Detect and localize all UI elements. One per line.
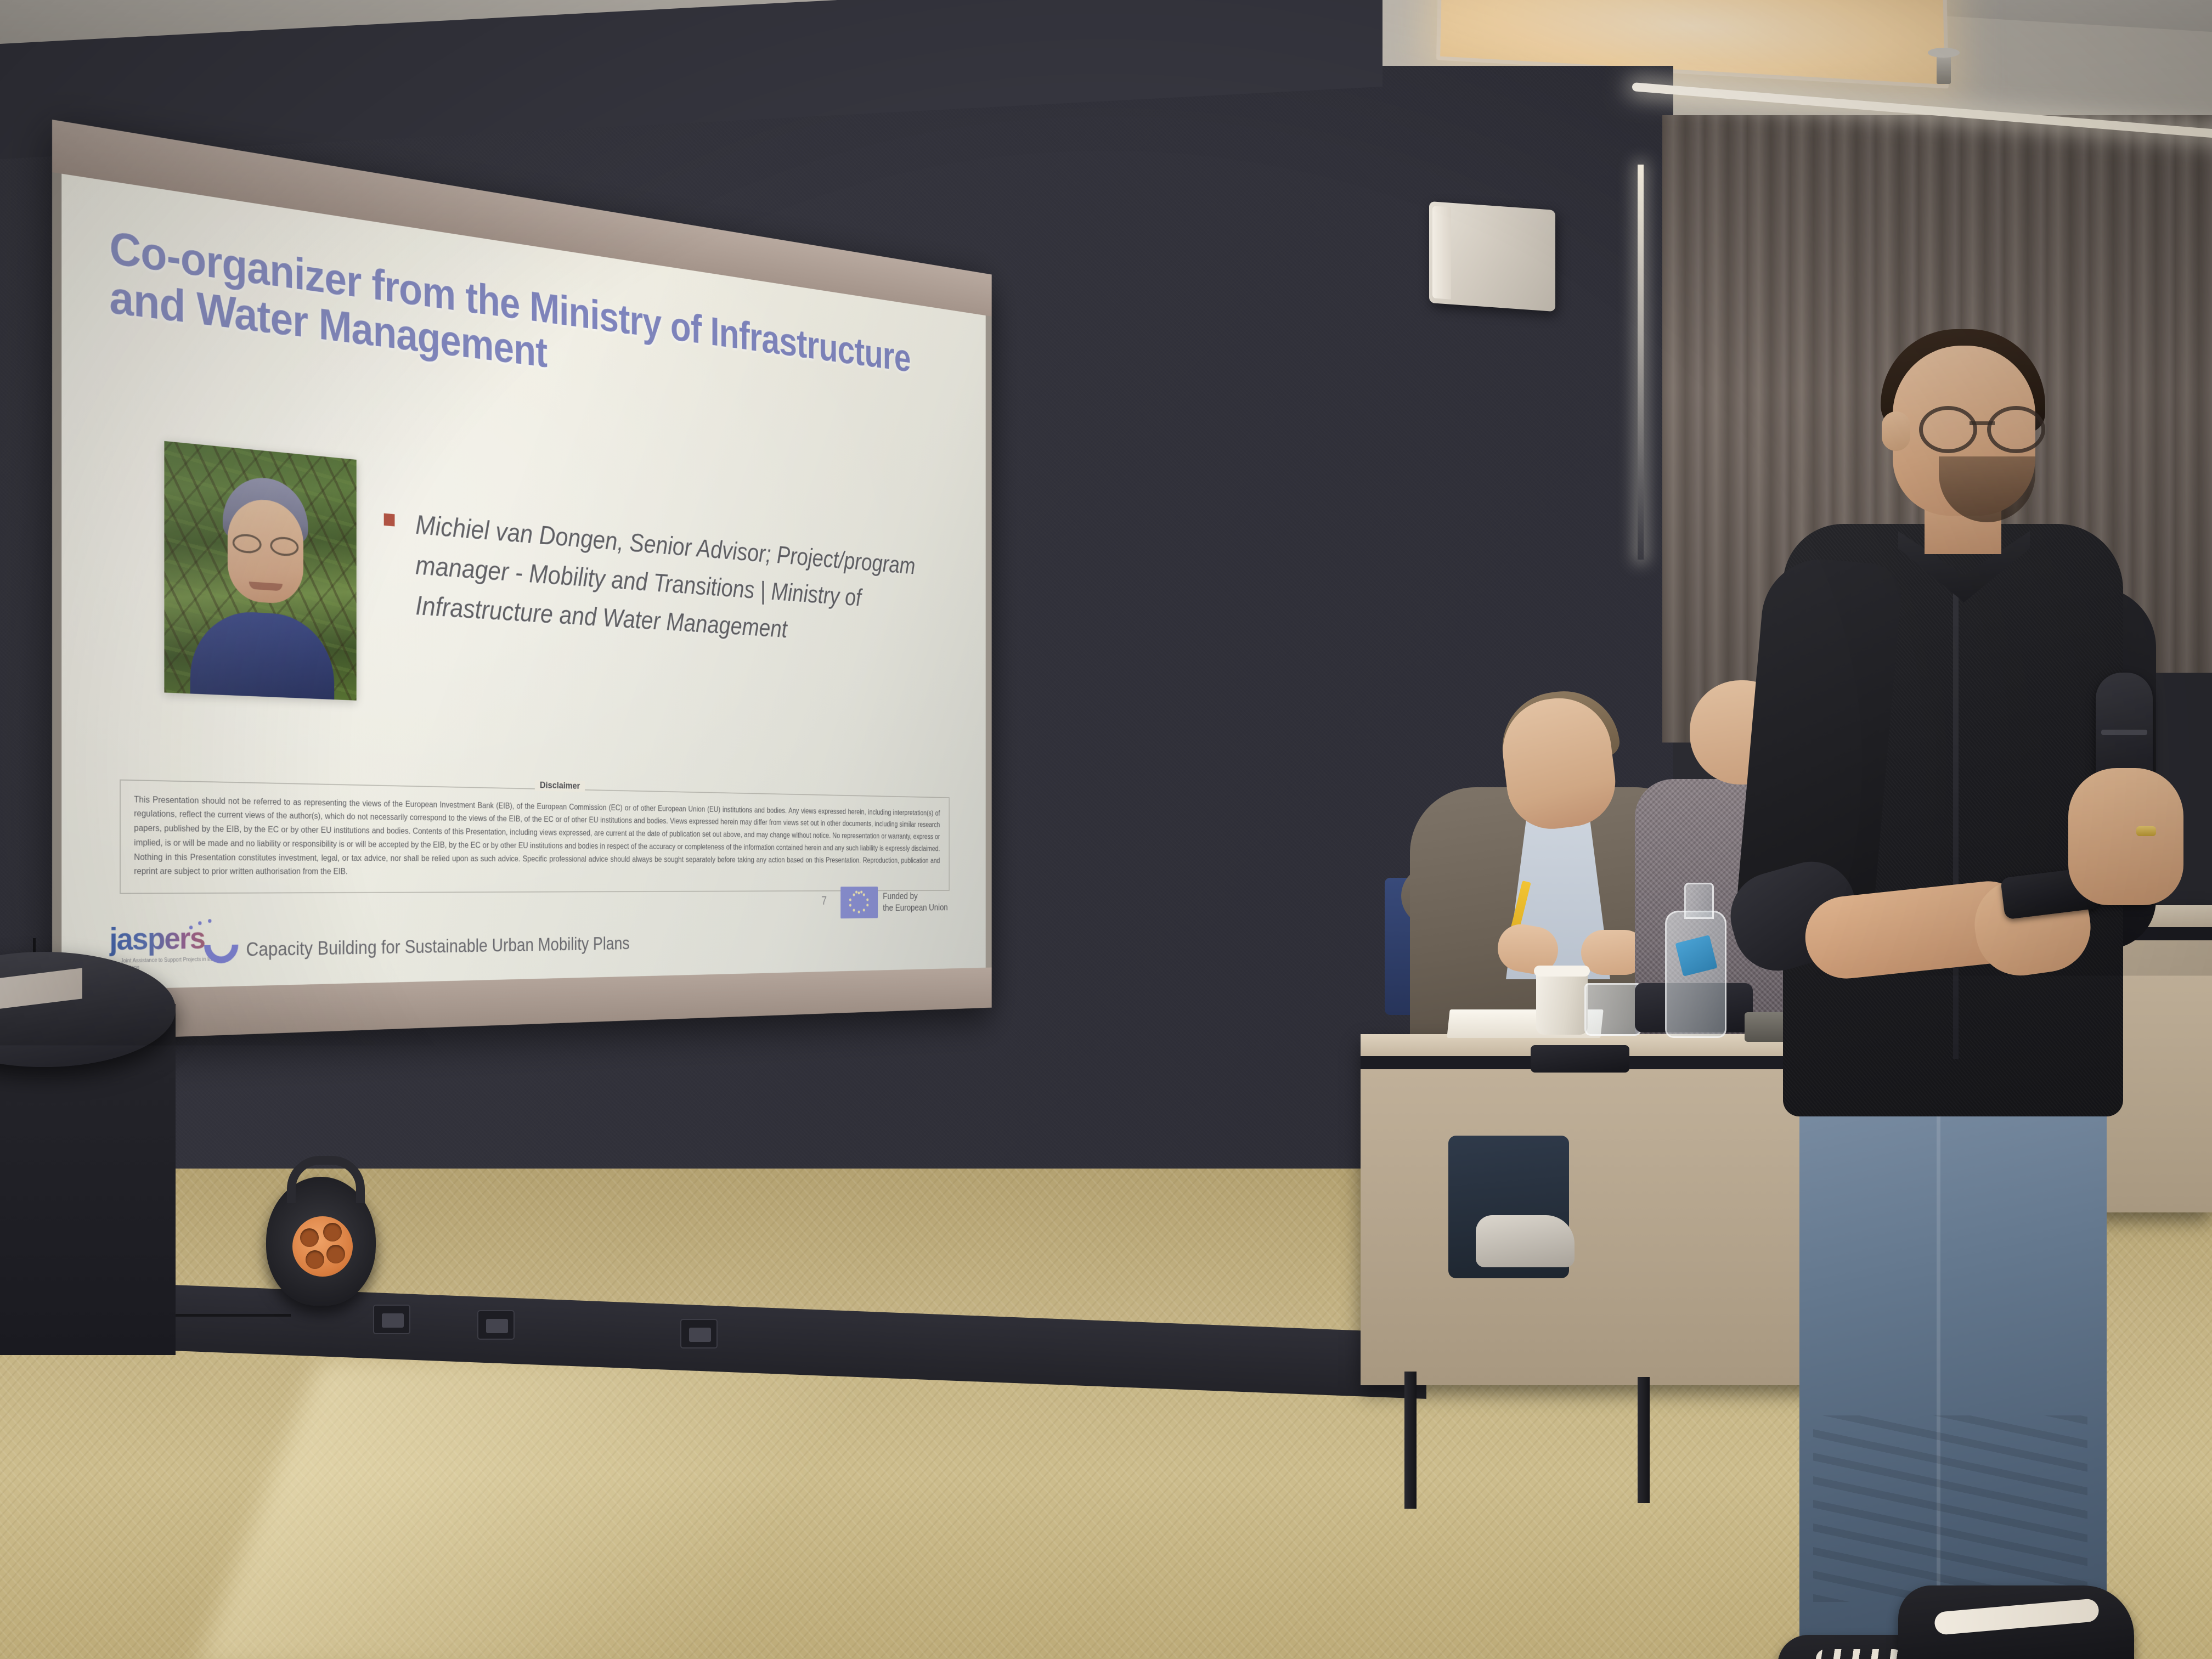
coffee-cup xyxy=(1536,970,1588,1035)
wall-speaker-icon xyxy=(1429,201,1555,312)
slide-bullet-list: Michiel van Dongen, Senior Advisor; Proj… xyxy=(384,502,947,657)
disclaimer-box: Disclaimer This Presentation should not … xyxy=(120,779,950,894)
disclaimer-text: This Presentation should not be referred… xyxy=(134,792,940,878)
table-leg xyxy=(1404,1372,1417,1509)
right-hand xyxy=(2068,768,2183,905)
right-sneaker xyxy=(1898,1585,2134,1659)
bottle-tag-blue xyxy=(1675,935,1717,977)
tote-bag xyxy=(1333,1144,1498,1347)
bullet-marker-icon xyxy=(384,513,395,527)
cable-reel xyxy=(266,1177,376,1306)
jaspers-dots-icon xyxy=(188,918,218,930)
eu-stars xyxy=(840,887,878,918)
table-leg xyxy=(1638,1377,1650,1503)
presentation-slide: Co-organizer from the Ministry of Infras… xyxy=(61,174,985,991)
presenter xyxy=(1717,329,2211,1659)
disclaimer-heading: Disclaimer xyxy=(535,780,585,792)
wall-socket xyxy=(373,1305,410,1334)
tote-bag-red-item xyxy=(1393,1152,1460,1288)
eu-funding-block: Funded by the European Union xyxy=(840,887,947,918)
eu-funding-line1: Funded by xyxy=(883,890,947,902)
portrait-photo xyxy=(164,441,356,701)
cable-reel-sockets-icon xyxy=(292,1216,353,1277)
projection-screen: Co-organizer from the Ministry of Infras… xyxy=(52,120,992,1041)
wedding-ring-icon xyxy=(2136,826,2156,836)
eu-funding-caption: Funded by the European Union xyxy=(883,890,947,913)
conference-room-photo: Co-organizer from the Ministry of Infras… xyxy=(0,0,2212,1659)
water-glass xyxy=(1584,983,1641,1036)
shirt-placket xyxy=(1953,587,1959,1059)
slide-footer-tagline: Capacity Building for Sustainable Urban … xyxy=(246,933,630,967)
bullet-item-text: Michiel van Dongen, Senior Advisor; Proj… xyxy=(415,505,947,657)
led-strip-vertical xyxy=(1638,165,1644,560)
eu-funding-line2: the European Union xyxy=(883,902,947,914)
slide-page-number: 7 xyxy=(821,894,827,908)
floor-light-reflection xyxy=(196,1361,1044,1659)
jeans-folds xyxy=(1813,1415,2087,1602)
sprinkler-head-icon xyxy=(1937,52,1951,84)
smartphone xyxy=(1531,1045,1629,1073)
eyeglasses-icon xyxy=(1919,406,2045,445)
wall-socket xyxy=(680,1319,718,1348)
wall-socket xyxy=(477,1310,515,1340)
ear xyxy=(1882,411,1910,451)
eu-flag-icon xyxy=(840,887,878,918)
